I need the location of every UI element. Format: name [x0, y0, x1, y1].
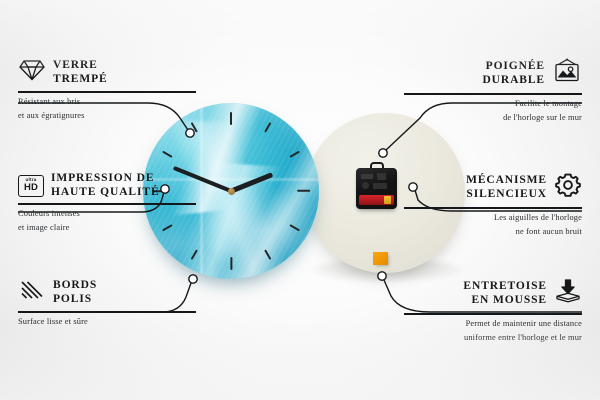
feature-title-line2: SILENCIEUX — [466, 188, 547, 202]
gear-icon — [554, 172, 582, 203]
feature-poignee-durable: POIGNÉE DURABLE Facilite le montage de l… — [404, 58, 582, 124]
feature-rule — [404, 207, 582, 209]
feature-title-line2: HAUTE QUALITÉ — [51, 186, 160, 200]
feature-entretoise-en-mousse: ENTRETOISE EN MOUSSE Permet de maintenir… — [404, 278, 582, 344]
hanging-frame-icon — [552, 58, 582, 89]
feature-title-line2: POLIS — [53, 293, 97, 307]
connector-dot-verre — [186, 129, 194, 137]
feature-title-line1: ENTRETOISE — [463, 280, 547, 294]
feature-heading: POIGNÉE DURABLE — [404, 58, 582, 89]
feature-rule — [18, 203, 196, 205]
feature-mecanisme-silencieux: MÉCANISME SILENCIEUX Les aiguilles de l'… — [404, 172, 582, 238]
feature-desc-line2: ne font aucun bruit — [404, 227, 582, 238]
feature-verre-trempe: VERRE TREMPÉ Résistant aux bris et aux é… — [18, 58, 196, 122]
feature-desc-line1: Surface lisse et sûre — [18, 317, 196, 328]
feature-title-line1: BORDS — [53, 279, 97, 293]
connector-dot-entretoise — [378, 272, 386, 280]
feature-desc-line1: Couleurs intenses — [18, 209, 196, 220]
polished-edges-icon — [18, 278, 46, 307]
feature-heading: BORDS POLIS — [18, 278, 196, 307]
feature-title-line1: POIGNÉE — [482, 60, 545, 74]
feature-rule — [18, 311, 196, 313]
feature-desc-line1: Résistant aux bris — [18, 97, 196, 108]
foam-spacer-arrow-icon — [554, 278, 582, 309]
diamond-icon — [18, 58, 46, 87]
feature-heading: MÉCANISME SILENCIEUX — [404, 172, 582, 203]
ultra-hd-badge-icon: ultra HD — [18, 175, 44, 197]
feature-title-line1: MÉCANISME — [466, 174, 547, 188]
feature-desc-line2: et image claire — [18, 223, 196, 234]
feature-heading: ENTRETOISE EN MOUSSE — [404, 278, 582, 309]
feature-rule — [404, 313, 582, 315]
feature-rule — [404, 93, 582, 95]
feature-impression-haute-qualite: ultra HD IMPRESSION DE HAUTE QUALITÉ Cou… — [18, 172, 196, 234]
feature-title-line1: VERRE — [53, 59, 108, 73]
feature-desc-line1: Permet de maintenir une distance — [404, 319, 582, 330]
feature-desc-line2: et aux égratignures — [18, 111, 196, 122]
feature-desc-line2: uniforme entre l'horloge et le mur — [404, 333, 582, 344]
feature-desc-line1: Facilite le montage — [404, 99, 582, 110]
feature-title-line2: TREMPÉ — [53, 73, 108, 87]
feature-title-line1: IMPRESSION DE — [51, 172, 160, 186]
connector-dot-poignee — [379, 149, 387, 157]
feature-desc-line2: de l'horloge sur le mur — [404, 113, 582, 124]
feature-heading: ultra HD IMPRESSION DE HAUTE QUALITÉ — [18, 172, 196, 199]
feature-bords-polis: BORDS POLIS Surface lisse et sûre — [18, 278, 196, 327]
feature-title-line2: DURABLE — [482, 74, 545, 88]
product-infographic: VERRE TREMPÉ Résistant aux bris et aux é… — [0, 0, 600, 400]
feature-title-line2: EN MOUSSE — [463, 294, 547, 308]
feature-heading: VERRE TREMPÉ — [18, 58, 196, 87]
feature-rule — [18, 91, 196, 93]
feature-desc-line1: Les aiguilles de l'horloge — [404, 213, 582, 224]
hd-badge-hd-text: HD — [24, 183, 38, 193]
